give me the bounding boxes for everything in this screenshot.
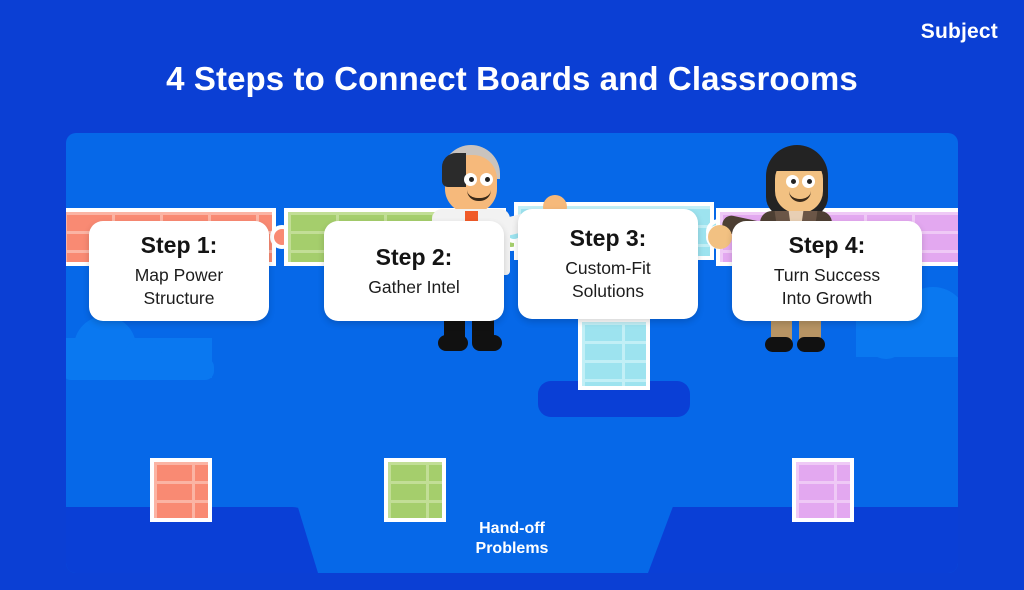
step-1-card[interactable]: Step 1: Map Power Structure: [89, 221, 269, 321]
woman-shoe-left: [765, 337, 793, 352]
man-shoe-left: [438, 335, 468, 351]
step-1-description: Map Power Structure: [135, 264, 224, 310]
step-2-description: Gather Intel: [368, 276, 459, 299]
step-1-pillar: [150, 458, 212, 522]
step-3-card[interactable]: Step 3: Custom-Fit Solutions: [518, 209, 698, 319]
step-4-card[interactable]: Step 4: Turn Success Into Growth: [732, 221, 922, 321]
man-shoe-right: [472, 335, 502, 351]
scene-panel: Hand-off Problems: [66, 133, 958, 573]
subject-label: Subject: [921, 20, 998, 44]
step-3-title: Step 3:: [570, 225, 647, 252]
step-2-card[interactable]: Step 2: Gather Intel: [324, 221, 504, 321]
step-3-pillar: [578, 318, 650, 390]
man-hair-front: [442, 153, 466, 187]
handoff-problems-label: Hand-off Problems: [66, 519, 958, 559]
step-1-title: Step 1:: [141, 232, 218, 259]
step-4-pillar: [792, 458, 854, 522]
step-2-title: Step 2:: [376, 244, 453, 271]
woman-hand-left: [708, 225, 732, 249]
step-4-description: Turn Success Into Growth: [774, 264, 880, 310]
page-title: 4 Steps to Connect Boards and Classrooms: [0, 60, 1024, 98]
woman-shoe-right: [797, 337, 825, 352]
step-4-title: Step 4:: [789, 232, 866, 259]
step-2-pillar: [384, 458, 446, 522]
cloud-left-icon: [66, 338, 212, 378]
step-3-description: Custom-Fit Solutions: [565, 257, 651, 303]
infographic-slide: Subject 4 Steps to Connect Boards and Cl…: [0, 0, 1024, 590]
